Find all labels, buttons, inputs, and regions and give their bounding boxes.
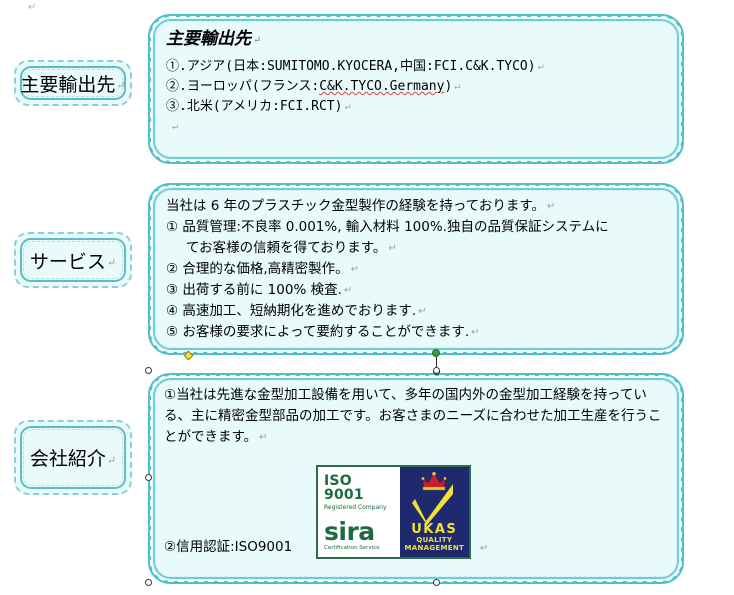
service-line-2: ① 品質管理:不良率 0.001%, 輸入材料 100%.独自の品質保証システム…	[166, 217, 676, 238]
sira-certification-service-text: Certification Service	[324, 546, 396, 552]
content-service: 当社は 6 年のプラスチック金型製作の経験を持っております。↵ ① 品質管理:不…	[166, 196, 676, 343]
ukas-wordmark: UKAS	[411, 523, 457, 536]
shape-resize-handle-bottom-left[interactable]	[145, 579, 152, 586]
content-box-company-profile[interactable]: ①当社は先進な金型加工設備を用いて、多年の国内外の金型加工経験を持っている、主に…	[148, 373, 684, 584]
company-profile-paragraph: ①当社は先進な金型加工設備を用いて、多年の国内外の金型加工経験を持っている、主に…	[164, 385, 668, 448]
company-profile-footer-line: ②信用認証:ISO9001	[164, 537, 292, 558]
pilcrow-mark: ↵	[480, 543, 488, 554]
service-line-2-cont: てお客様の信頼を得ております。↵	[166, 238, 676, 259]
export-line-1: ①.アジア(日本:SUMITOMO.KYOCERA,中国:FCI.C&K.TYC…	[166, 57, 676, 77]
pilcrow-mark: ↵	[116, 79, 125, 92]
service-line-4: ③ 出荷する前に 100% 検査.↵	[166, 280, 676, 301]
pilcrow-mark: ↵	[388, 243, 396, 254]
shape-rotate-handle[interactable]	[432, 349, 440, 357]
pilcrow-mark: ↵	[259, 432, 267, 443]
label-box-export-destinations[interactable]: 主要輸出先↵	[14, 60, 132, 106]
ukas-panel: UKAS QUALITY MANAGEMENT	[400, 467, 469, 557]
pilcrow-mark: ↵	[344, 285, 352, 296]
export-line-blank: ↵	[166, 117, 676, 137]
service-line-5: ④ 高速加工、短納期化を進めでおります.↵	[166, 301, 676, 322]
content-box-service[interactable]: 当社は 6 年のプラスチック金型製作の経験を持っております。↵ ① 品質管理:不…	[148, 183, 684, 355]
iso-ukas-certificate-logo: ISO 9001 Registered Company sira Certifi…	[316, 465, 471, 559]
certificate-left-panel: ISO 9001 Registered Company sira Certifi…	[318, 467, 400, 557]
label-text-company-profile: 会社紹介↵	[30, 444, 116, 471]
pilcrow-mark: ↵	[471, 327, 479, 338]
pilcrow-mark: ↵	[351, 264, 359, 275]
pilcrow-mark: ↵	[107, 256, 116, 269]
shape-resize-handle-top-left[interactable]	[145, 367, 152, 374]
label-text-export-destinations: 主要輸出先↵	[20, 70, 125, 97]
pilcrow-mark: ↵	[107, 454, 116, 467]
service-line-3: ② 合理的な価格,高精密製作。↵	[166, 259, 676, 280]
content-company-profile: ①当社は先進な金型加工設備を用いて、多年の国内外の金型加工経験を持っている、主に…	[164, 385, 668, 448]
export-line-2: ②.ヨーロッパ(フランス:C&K.TYCO.Germany)↵	[166, 77, 676, 97]
label-box-company-profile[interactable]: 会社紹介↵	[14, 420, 132, 495]
document-mark-top: ↵	[28, 2, 36, 13]
service-line-6: ⑤ お客様の要求によって要約することができます.↵	[166, 322, 676, 343]
pilcrow-mark: ↵	[547, 201, 555, 212]
shape-resize-handle-top-middle[interactable]	[433, 367, 440, 374]
pilcrow-mark: ↵	[172, 121, 178, 132]
export-line-3: ③.北米(アメリカ:FCI.RCT)↵	[166, 97, 676, 117]
pilcrow-mark: ↵	[344, 101, 350, 112]
pilcrow-mark: ↵	[253, 35, 261, 46]
sira-wordmark: sira	[324, 521, 396, 544]
pilcrow-mark: ↵	[538, 61, 544, 72]
iso-registered-company-text: Registered Company	[324, 505, 396, 511]
pilcrow-mark: ↵	[454, 81, 460, 92]
ukas-quality-text: QUALITY	[416, 536, 452, 545]
ukas-management-text: MANAGEMENT	[404, 544, 464, 553]
iso-9001-title: ISO 9001	[324, 474, 396, 502]
service-line-1: 当社は 6 年のプラスチック金型製作の経験を持っております。↵	[166, 196, 676, 217]
content-box-export-destinations[interactable]: 主要輸出先↵ ①.アジア(日本:SUMITOMO.KYOCERA,中国:FCI.…	[148, 14, 684, 164]
label-text-service: サービス↵	[30, 247, 116, 274]
label-box-service[interactable]: サービス↵	[14, 232, 132, 288]
shape-resize-handle-middle-left[interactable]	[145, 474, 152, 481]
content-export-destinations: 主要輸出先↵ ①.アジア(日本:SUMITOMO.KYOCERA,中国:FCI.…	[166, 24, 676, 137]
shape-resize-handle-bottom-center[interactable]	[433, 579, 440, 586]
heading-export-destinations: 主要輸出先↵	[166, 24, 676, 49]
document-canvas: ↵ 主要輸出先↵ 主要輸出先↵ ①.アジア(日本:SUMITOMO.KYOCER…	[0, 0, 734, 595]
misspelled-text: C&K.TYCO.Germany	[319, 79, 444, 94]
pilcrow-mark: ↵	[418, 306, 426, 317]
